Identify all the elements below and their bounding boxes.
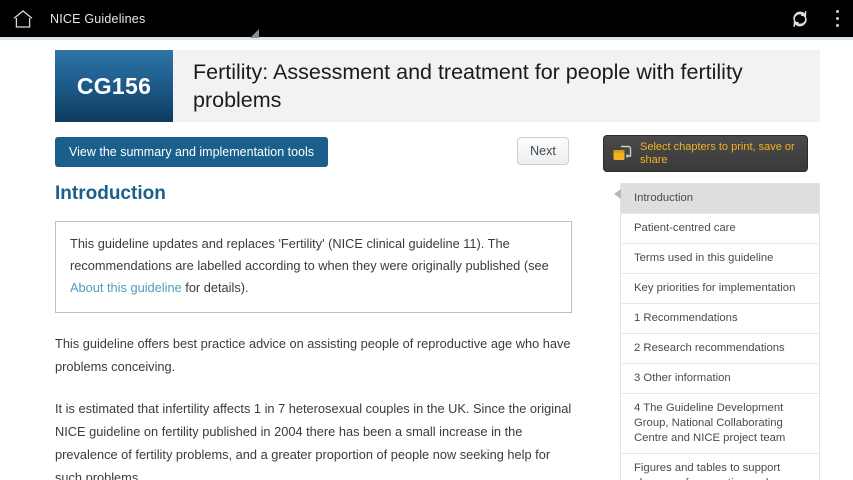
refresh-icon[interactable] bbox=[791, 10, 809, 28]
about-this-guideline-link[interactable]: About this guideline bbox=[70, 280, 182, 295]
next-button[interactable]: Next bbox=[517, 137, 569, 165]
sidebar-item-label: 1 Recommendations bbox=[634, 312, 738, 324]
page-canvas: CG156 Fertility: Assessment and treatmen… bbox=[0, 40, 853, 480]
sidebar-item-figures-and-tables[interactable]: Figures and tables to support chances of… bbox=[621, 454, 819, 480]
sidebar-item-label: Introduction bbox=[634, 192, 693, 204]
select-chapters-button[interactable]: Select chapters to print, save or share bbox=[603, 135, 808, 172]
update-callout: This guideline updates and replaces 'Fer… bbox=[55, 221, 572, 313]
home-icon[interactable] bbox=[12, 9, 34, 29]
sidebar-item-key-priorities[interactable]: Key priorities for implementation bbox=[621, 274, 819, 304]
sidebar-item-introduction[interactable]: Introduction bbox=[621, 184, 819, 214]
selected-pointer-icon bbox=[614, 189, 621, 199]
window-resize-handle bbox=[250, 29, 259, 38]
callout-text-after: for details). bbox=[182, 280, 249, 295]
sidebar-item-label: Patient-centred care bbox=[634, 222, 736, 234]
sidebar-item-label: 4 The Guideline Development Group, Natio… bbox=[634, 402, 785, 444]
section-heading: Introduction bbox=[55, 183, 572, 205]
sidebar-item-terms-used[interactable]: Terms used in this guideline bbox=[621, 244, 819, 274]
chapter-sidebar: Introduction Patient-centred care Terms … bbox=[620, 183, 820, 480]
sidebar-item-guideline-development-group[interactable]: 4 The Guideline Development Group, Natio… bbox=[621, 394, 819, 454]
intro-paragraph-1: This guideline offers best practice advi… bbox=[55, 332, 572, 378]
intro-paragraph-2: It is estimated that infertility affects… bbox=[55, 397, 572, 480]
share-chapters-icon bbox=[612, 145, 632, 163]
body-columns: Introduction This guideline updates and … bbox=[55, 183, 820, 480]
content-column: Introduction This guideline updates and … bbox=[55, 183, 572, 480]
sidebar-item-label: Figures and tables to support chances of… bbox=[634, 462, 800, 480]
sidebar-item-other-information[interactable]: 3 Other information bbox=[621, 364, 819, 394]
sidebar-item-label: Key priorities for implementation bbox=[634, 282, 795, 294]
app-title: NICE Guidelines bbox=[50, 12, 145, 26]
document-header: CG156 Fertility: Assessment and treatmen… bbox=[55, 50, 820, 122]
callout-text-before: This guideline updates and replaces 'Fer… bbox=[70, 236, 549, 273]
view-summary-button[interactable]: View the summary and implementation tool… bbox=[55, 137, 328, 167]
sidebar-item-label: Terms used in this guideline bbox=[634, 252, 773, 264]
chapter-list: Introduction Patient-centred care Terms … bbox=[620, 183, 820, 480]
select-chapters-label: Select chapters to print, save or share bbox=[640, 141, 799, 166]
sidebar-item-label: 2 Research recommendations bbox=[634, 342, 785, 354]
sidebar-item-label: 3 Other information bbox=[634, 372, 731, 384]
document-code-badge: CG156 bbox=[55, 50, 173, 122]
app-bar-right bbox=[791, 10, 839, 28]
sidebar-item-patient-centred-care[interactable]: Patient-centred care bbox=[621, 214, 819, 244]
overflow-menu-icon[interactable] bbox=[835, 10, 839, 27]
sidebar-item-recommendations[interactable]: 1 Recommendations bbox=[621, 304, 819, 334]
app-bar-left: NICE Guidelines bbox=[12, 9, 791, 29]
app-bar: NICE Guidelines bbox=[0, 0, 853, 37]
sidebar-item-research-recommendations[interactable]: 2 Research recommendations bbox=[621, 334, 819, 364]
page-title: Fertility: Assessment and treatment for … bbox=[173, 50, 820, 122]
action-row: View the summary and implementation tool… bbox=[55, 137, 820, 171]
